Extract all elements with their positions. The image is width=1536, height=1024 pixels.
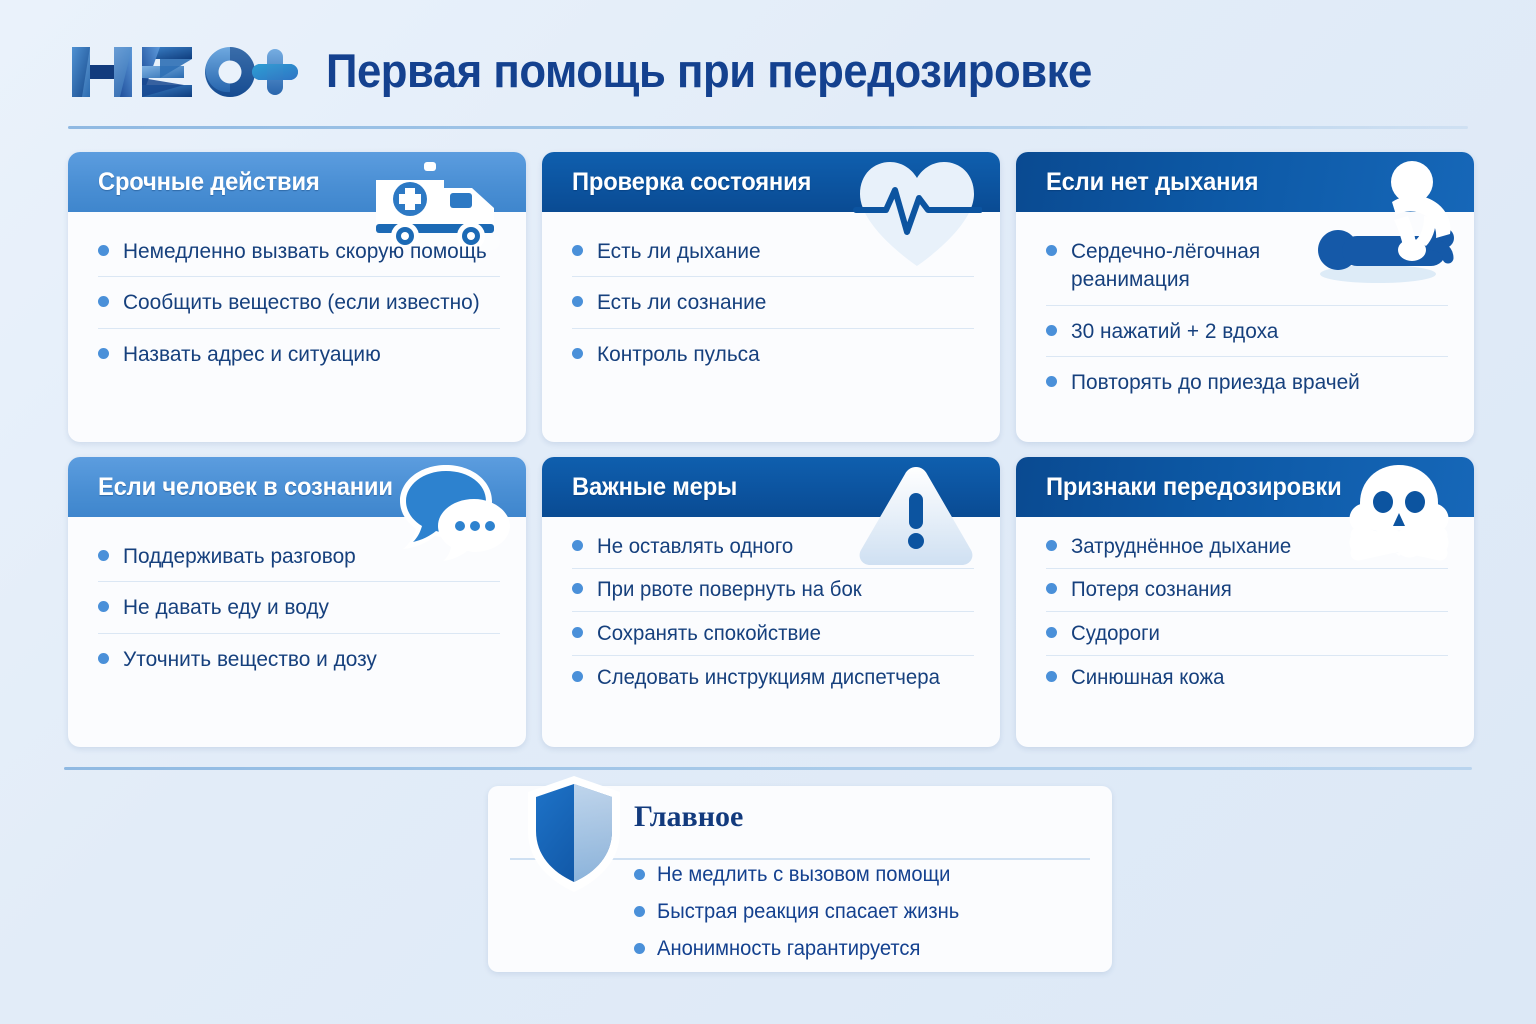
card-header: Срочные действия [68,152,526,212]
list-item-label: Немедленно вызвать скорую помощь [123,237,487,265]
header-divider [68,126,1468,129]
bullet-icon [98,550,109,561]
list-item[interactable]: Уточнить вещество и дозу [98,634,500,684]
card-body: Затруднённое дыхание Потеря сознания Суд… [1016,517,1474,709]
card-urgent-actions[interactable]: Срочные действия [68,152,526,442]
list-item[interactable]: Назвать адрес и ситуацию [98,329,500,379]
list-item[interactable]: Следовать инструкциям диспетчера [572,656,974,699]
list-item-label: Судороги [1071,620,1160,648]
bullet-icon [634,906,645,917]
list-item[interactable]: Быстрая реакция спасает жизнь [634,893,1082,930]
bullet-icon [1046,325,1057,336]
bullet-icon [1046,627,1057,638]
card-body: Не оставлять одного При рвоте повернуть … [542,517,1000,709]
card-title: Если нет дыхания [1046,168,1258,197]
list-item-label: Сохранять спокойствие [597,620,821,648]
list-item-label: Синюшная кожа [1071,664,1224,692]
list-item-label: Есть ли дыхание [597,237,761,265]
list-item-label: Не оставлять одного [597,533,793,561]
footer-list: Не медлить с вызовом помощи Быстрая реак… [634,842,1082,967]
list-item[interactable]: Контроль пульса [572,329,974,379]
card-title: Срочные действия [98,168,320,197]
list-item[interactable]: Есть ли сознание [572,277,974,328]
card-title: Проверка состояния [572,168,811,197]
list-item-label: Контроль пульса [597,340,760,368]
card-conscious-person[interactable]: Если человек в сознании Поддерживать раз… [68,457,526,747]
bullet-icon [572,583,583,594]
card-body: Немедленно вызвать скорую помощь Сообщит… [68,212,526,389]
list-item-label: Следовать инструкциям диспетчера [597,664,940,692]
bullet-icon [1046,671,1057,682]
list-item-label: Не медлить с вызовом помощи [657,863,950,887]
card-body: Есть ли дыхание Есть ли сознание Контрол… [542,212,1000,389]
bullet-icon [1046,376,1057,387]
card-title: Признаки передозировки [1046,473,1341,502]
bullet-icon [98,653,109,664]
list-item[interactable]: Потеря сознания [1046,569,1448,613]
bullet-icon [634,869,645,880]
list-item-label: Потеря сознания [1071,576,1232,604]
card-title: Если человек в сознании [98,473,393,502]
list-item[interactable]: Судороги [1046,612,1448,656]
list-item-label: Затруднённое дыхание [1071,533,1291,561]
list-item[interactable]: Затруднённое дыхание [1046,525,1448,569]
page-header: Первая помощь при передозировке [68,22,1468,118]
list-item[interactable]: Повторять до приезда врачей [1046,357,1448,407]
neo-plus-logo [68,35,300,105]
bullet-icon [572,245,583,256]
list-item-label: Уточнить вещество и дозу [123,645,377,673]
list-item[interactable]: При рвоте повернуть на бок [572,569,974,613]
bullet-icon [1046,245,1057,256]
list-item[interactable]: Сообщить вещество (если известно) [98,277,500,328]
page-title: Первая помощь при передозировке [326,47,1092,94]
bullet-icon [572,348,583,359]
list-item[interactable]: Синюшная кожа [1046,656,1448,699]
shield-icon [520,774,628,894]
list-item-label: 30 нажатий + 2 вдоха [1071,317,1278,345]
card-header: Если человек в сознании [68,457,526,517]
card-body: Сердечно-лёгочная реанимация 30 нажатий … [1016,212,1474,418]
list-item[interactable]: Поддерживать разговор [98,531,500,582]
footer-title: Главное [634,802,1082,842]
cards-grid: Срочные действия [68,152,1474,747]
bullet-icon [572,627,583,638]
bullet-icon [1046,583,1057,594]
bullet-icon [572,671,583,682]
list-item[interactable]: Сохранять спокойствие [572,612,974,656]
bullet-icon [98,245,109,256]
bullet-icon [1046,540,1057,551]
card-body: Поддерживать разговор Не давать еду и во… [68,517,526,694]
list-item-label: Назвать адрес и ситуацию [123,340,381,368]
bullet-icon [634,943,645,954]
list-item-label: Сердечно-лёгочная реанимация [1071,237,1280,294]
list-item-label: Повторять до приезда врачей [1071,368,1360,396]
card-condition-check[interactable]: Проверка состояния Есть ли дыхание Есть … [542,152,1000,442]
card-title: Важные меры [572,473,737,502]
card-header: Важные меры [542,457,1000,517]
footer-divider [64,767,1472,770]
list-item[interactable]: Не давать еду и воду [98,582,500,633]
list-item-label: При рвоте повернуть на бок [597,576,862,604]
list-item[interactable]: Анонимность гарантируется [634,930,1082,967]
list-item[interactable]: Немедленно вызвать скорую помощь [98,226,500,277]
bullet-icon [572,540,583,551]
list-item-label: Есть ли сознание [597,288,766,316]
card-overdose-signs[interactable]: Признаки передозировки Затруднённое дыха… [1016,457,1474,747]
card-important-measures[interactable]: Важные меры Не оставлять одного [542,457,1000,747]
list-item[interactable]: 30 нажатий + 2 вдоха [1046,306,1448,357]
bullet-icon [98,296,109,307]
card-no-breathing[interactable]: Если нет дыхания [1016,152,1474,442]
list-item-label: Быстрая реакция спасает жизнь [657,900,959,924]
bullet-icon [98,348,109,359]
card-header: Признаки передозировки [1016,457,1474,517]
list-item[interactable]: Не медлить с вызовом помощи [634,856,1082,893]
list-item[interactable]: Сердечно-лёгочная реанимация [1046,226,1448,306]
list-item[interactable]: Есть ли дыхание [572,226,974,277]
list-item[interactable]: Не оставлять одного [572,525,974,569]
list-item-label: Не давать еду и воду [123,593,329,621]
card-header: Если нет дыхания [1016,152,1474,212]
list-item-label: Сообщить вещество (если известно) [123,288,480,316]
card-header: Проверка состояния [542,152,1000,212]
list-item-label: Поддерживать разговор [123,542,356,570]
bullet-icon [572,296,583,307]
bullet-icon [98,601,109,612]
list-item-label: Анонимность гарантируется [657,937,920,961]
